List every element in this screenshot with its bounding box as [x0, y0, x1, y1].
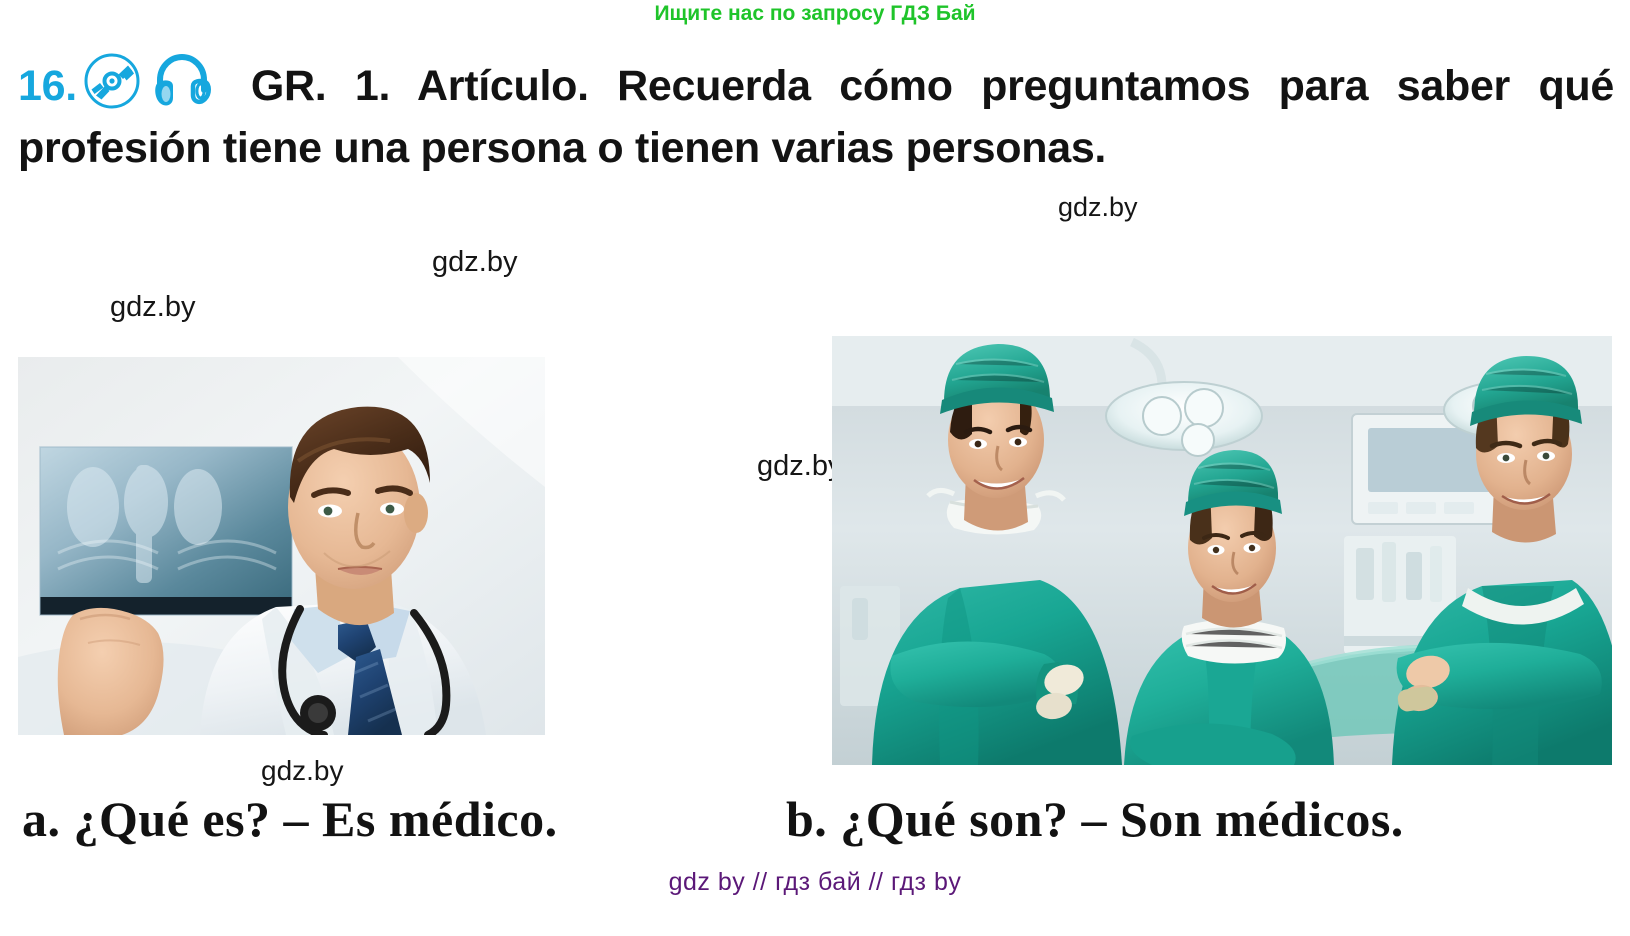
caption-answer-b: b. ¿Qué son? – Son médicos.: [786, 790, 1404, 848]
promo-banner-text: Ищите нас по запросу ГДЗ Бай: [0, 2, 1630, 26]
exercise-number: 16.: [18, 62, 77, 110]
watermark-gdz: gdz.by: [110, 291, 195, 324]
footer-watermark-text: gdz by // гдз бай // гдз by: [0, 868, 1630, 897]
watermark-gdz: gdz.by: [757, 450, 842, 483]
photo-surgeons-team: [832, 336, 1612, 765]
headphones-icon: [153, 52, 211, 110]
exercise-heading-block: 16. GR. 1. Artículo. Recuerda cómo pregu…: [18, 52, 1614, 179]
watermark-gdz: gdz.by: [1058, 192, 1138, 223]
caption-answer-a: a. ¿Qué es? – Es médico.: [22, 790, 558, 848]
watermark-gdz: gdz.by: [432, 246, 517, 279]
photo-doctor-xray: [18, 357, 545, 735]
exercise-instruction-text: GR. 1. Artículo. Recuerda cómo preguntam…: [18, 62, 1614, 172]
cd-disc-icon: [83, 52, 141, 110]
watermark-gdz: gdz.by: [261, 755, 344, 787]
exercise-instruction-paragraph: 16. GR. 1. Artículo. Recuerda cómo pregu…: [18, 52, 1614, 179]
